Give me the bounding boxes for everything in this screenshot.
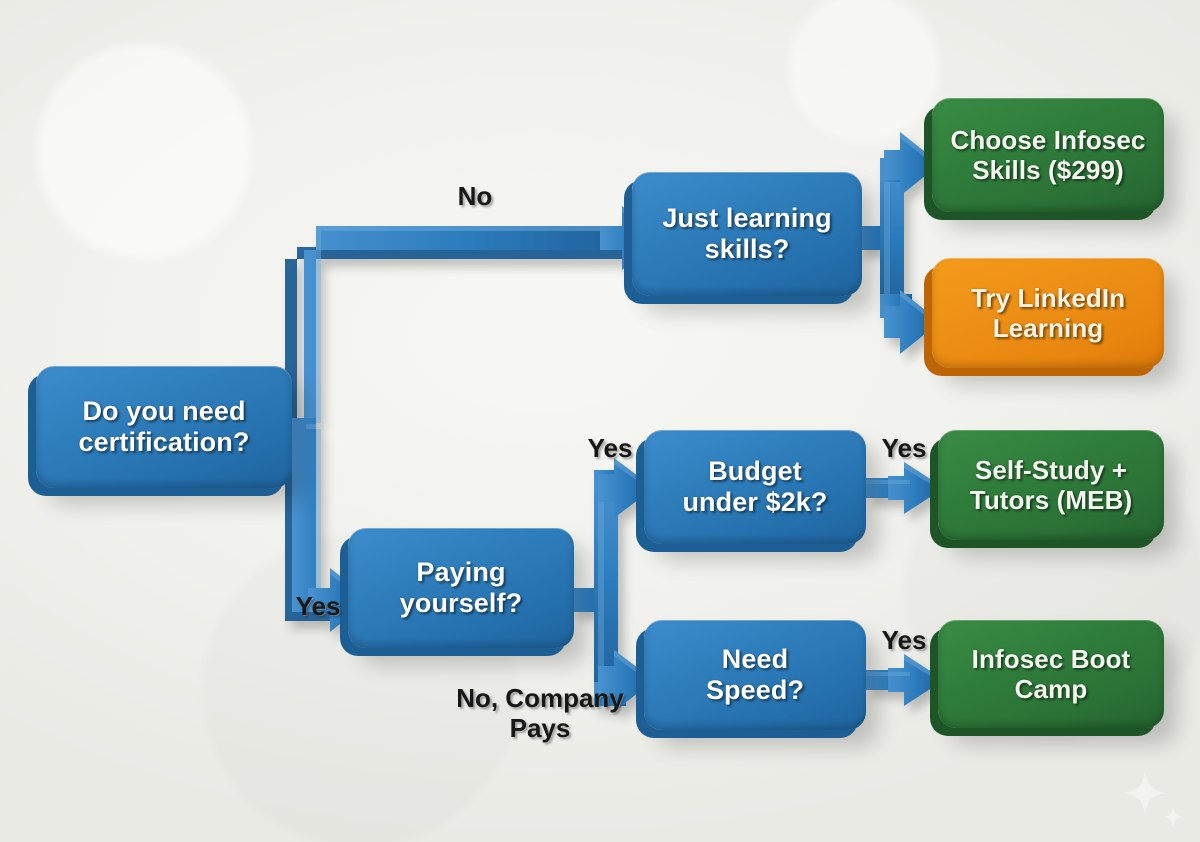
connector-paying-split (572, 458, 654, 712)
node-label: Self-Study + Tutors (MEB) (950, 455, 1152, 515)
edge-label-no-company-pays: No, Company Pays (440, 684, 640, 744)
node-label: Need Speed? (656, 644, 854, 707)
connector-no-just-learning (285, 206, 662, 442)
node-label: Choose Infosec Skills ($299) (944, 125, 1152, 185)
node-need-certification[interactable]: Do you need certification? (36, 366, 292, 488)
node-label: Budget under $2k? (656, 456, 854, 519)
node-choose-infosec-skills[interactable]: Choose Infosec Skills ($299) (932, 98, 1164, 212)
edge-label-yes-budget: Yes (572, 434, 648, 464)
node-budget-under-2k[interactable]: Budget under $2k? (644, 430, 866, 544)
node-paying-yourself[interactable]: Paying yourself? (348, 528, 574, 648)
connector-yes-self-study (866, 462, 944, 514)
node-infosec-boot-camp[interactable]: Infosec Boot Camp (938, 620, 1164, 728)
connector-skills-split (858, 132, 940, 354)
edge-label-yes-boot-camp: Yes (866, 626, 942, 656)
node-label: Infosec Boot Camp (950, 644, 1152, 704)
node-label: Just learning skills? (644, 203, 850, 266)
edge-label-yes-paying-yourself: Yes (282, 592, 354, 622)
node-label: Try LinkedIn Learning (944, 283, 1152, 343)
node-self-study-tutors[interactable]: Self-Study + Tutors (MEB) (938, 430, 1164, 540)
connector-yes-boot-camp (866, 654, 944, 706)
node-need-speed[interactable]: Need Speed? (644, 620, 866, 730)
node-label: Paying yourself? (360, 557, 562, 620)
node-label: Do you need certification? (48, 396, 280, 459)
node-try-linkedin-learning[interactable]: Try LinkedIn Learning (932, 258, 1164, 368)
edge-label-no: No (440, 182, 510, 212)
flowchart-canvas: Do you need certification? Just learning… (0, 0, 1200, 842)
edge-label-yes-self-study: Yes (866, 434, 942, 464)
node-just-learning-skills[interactable]: Just learning skills? (632, 172, 862, 296)
